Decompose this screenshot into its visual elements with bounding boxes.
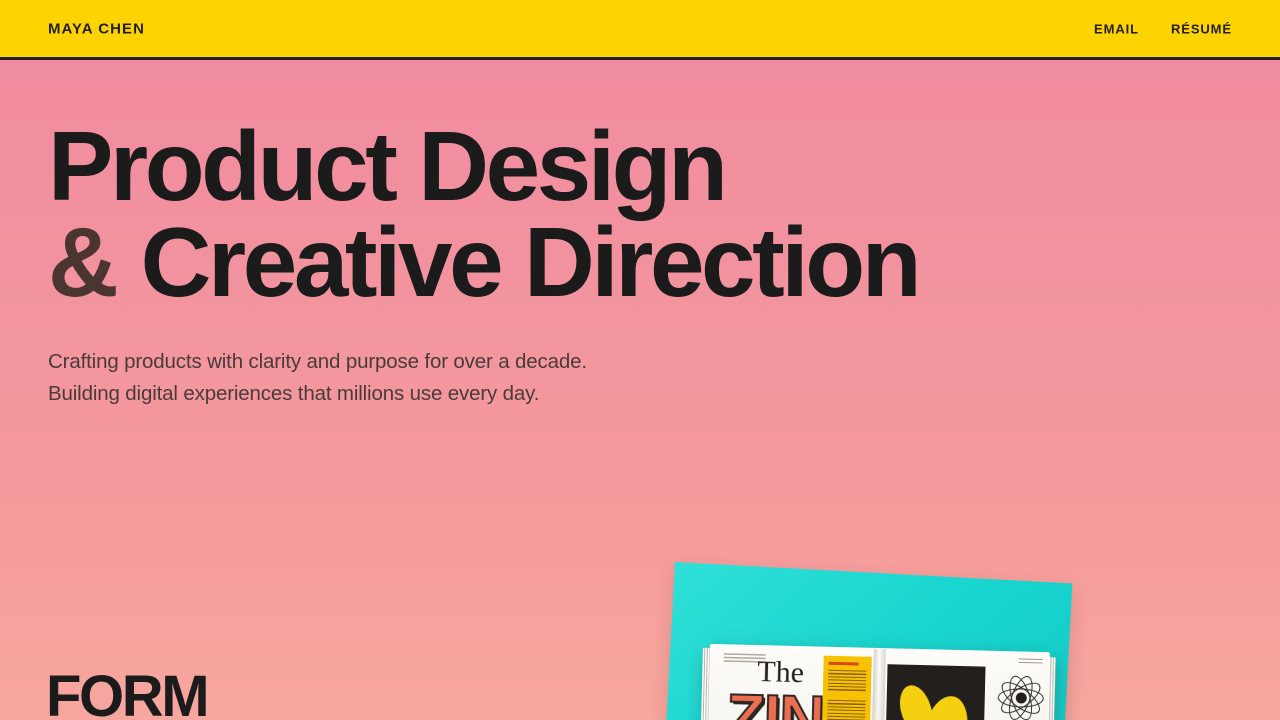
ampersand-glyph: &	[48, 207, 117, 317]
sidebar-text-block-2	[827, 700, 866, 720]
sidebar-text-block-1	[828, 670, 867, 693]
page-title: Product Design & Creative Direction	[48, 118, 918, 310]
hero-subtitle-line-2: Building digital experiences that millio…	[48, 378, 918, 410]
atom-nucleus	[1015, 692, 1026, 703]
magazine-right-page	[876, 648, 1050, 720]
nav-link-email[interactable]: EMAIL	[1094, 21, 1139, 36]
atom-diagram-icon	[996, 673, 1045, 720]
site-header: MAYA CHEN EMAIL RÉSUMÉ	[0, 0, 1280, 60]
magazine-left-page: The ZIN	[706, 644, 880, 720]
hero-subtitle: Crafting products with clarity and purpo…	[48, 346, 918, 411]
hero-title-line-2: & Creative Direction	[48, 214, 918, 310]
open-magazine: The ZIN	[706, 644, 1050, 720]
hero-section: Product Design & Creative Direction Craf…	[48, 118, 918, 411]
section-heading-form: FORM	[46, 668, 207, 720]
black-illustration-panel	[884, 664, 985, 720]
hero-photo-magazine: The ZIN	[640, 540, 1160, 720]
nav-link-resume[interactable]: RÉSUMÉ	[1171, 21, 1232, 36]
page-number-text	[1019, 658, 1043, 666]
hero-title-line-2-text: Creative Direction	[141, 207, 919, 317]
primary-nav: EMAIL RÉSUMÉ	[1094, 21, 1232, 36]
hero-title-line-1: Product Design	[48, 118, 918, 214]
magazine-headline: ZIN	[725, 684, 824, 720]
sidebar-heading-rule	[829, 662, 859, 666]
hero-subtitle-line-1: Crafting products with clarity and purpo…	[48, 346, 918, 378]
magazine-yellow-sidebar	[820, 656, 872, 720]
brand-logo[interactable]: MAYA CHEN	[48, 20, 145, 37]
